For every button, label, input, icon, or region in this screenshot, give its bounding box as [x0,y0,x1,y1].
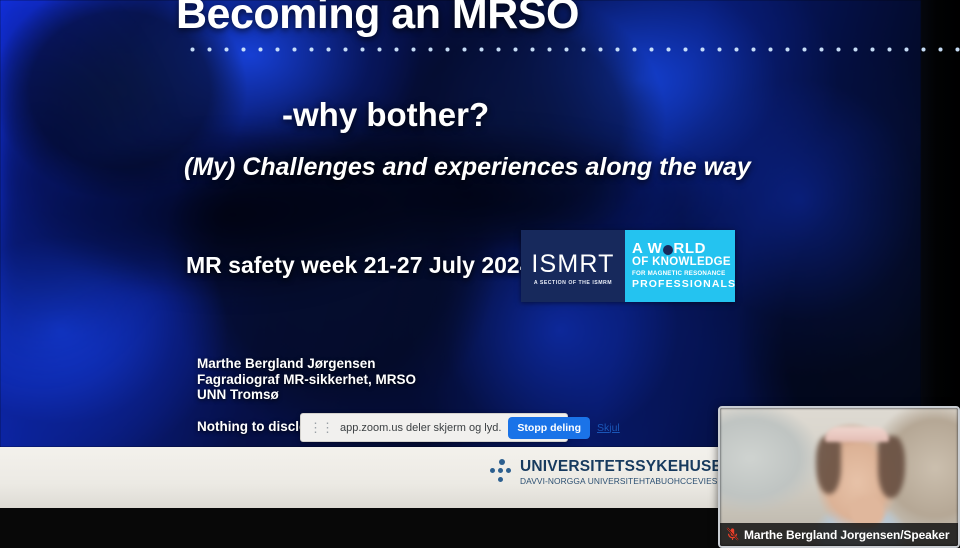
webcam-pip[interactable]: Marthe Bergland Jorgensen/Speaker [718,406,960,548]
a-world-of-knowledge-panel: A WRLD OF KNOWLEDGE FOR MAGNETIC RESONAN… [625,230,735,302]
drag-handle-icon[interactable]: ⋮⋮ [309,420,333,436]
title-dotted-divider [184,46,960,53]
awok-line-2: OF KNOWLEDGE [632,256,735,269]
slide-tagline: (My) Challenges and experiences along th… [184,153,751,182]
presenter-block: Marthe Bergland Jørgensen Fagradiograf M… [197,356,416,403]
globe-icon [663,245,673,255]
share-status-message: app.zoom.us deler skjerm og lyd. [340,422,501,434]
ismrt-section-tagline: A SECTION OF THE ISMRM [534,280,612,286]
participant-name-label: Marthe Bergland Jorgensen/Speaker [744,528,949,542]
slide-subtitle: -why bother? [282,96,489,134]
awok-line-3: FOR MAGNETIC RESONANCE [632,269,735,278]
webcam-headband [825,427,889,442]
stop-sharing-button[interactable]: Stopp deling [508,417,590,439]
slide-title: Becoming an MRSO [176,0,579,39]
presenter-name: Marthe Bergland Jørgensen [197,356,416,372]
microphone-muted-icon [726,527,739,542]
presenter-affiliation: UNN Tromsø [197,387,416,403]
screen-share-notification-bar[interactable]: ⋮⋮ app.zoom.us deler skjerm og lyd. Stop… [300,413,568,442]
hide-bar-link[interactable]: Skjul [597,422,620,434]
ismrt-logo: ISMRT A SECTION OF THE ISMRM A WRLD OF K… [521,230,735,302]
awok-line-1-end: RLD [673,241,706,256]
unn-dots-icon [489,459,513,485]
webcam-hair-right [878,436,905,498]
webcam-hair-left [816,436,841,494]
ismrt-wordmark-panel: ISMRT A SECTION OF THE ISMRM [521,230,625,302]
ismrt-wordmark: ISMRT [531,251,614,277]
shared-screen-capture: Becoming an MRSO -why bother? (My) Chall… [0,0,960,548]
awok-line-4: PROFESSIONALS [632,278,735,291]
presenter-role: Fagradiograf MR-sikkerhet, MRSO [197,372,416,388]
awok-line-1: A WRLD [632,241,735,256]
slide-event-line: MR safety week 21-27 July 2024 [186,252,532,279]
awok-line-1-start: A W [632,241,662,256]
participant-name-bar: Marthe Bergland Jorgensen/Speaker [720,523,958,546]
slide-background-image [0,0,921,447]
